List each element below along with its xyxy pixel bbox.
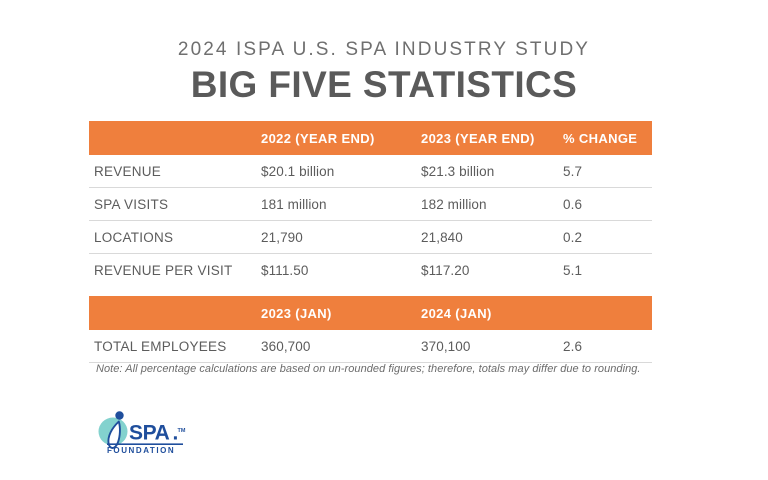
svg-text:TM: TM	[178, 428, 186, 434]
page-title: BIG FIVE STATISTICS	[0, 64, 768, 106]
cell-spa-visits-2023: 182 million	[421, 197, 563, 212]
table-section-spacer	[89, 287, 652, 296]
page-subtitle: 2024 ISPA U.S. SPA INDUSTRY STUDY	[0, 38, 768, 62]
row-label-revenue: REVENUE	[89, 164, 261, 179]
table-row: SPA VISITS 181 million 182 million 0.6	[89, 188, 652, 221]
header-cell-2022-year-end: 2022 (YEAR END)	[261, 131, 421, 146]
header-cell-2024-jan: 2024 (JAN)	[421, 306, 563, 321]
row-label-spa-visits: SPA VISITS	[89, 197, 261, 212]
table-row: REVENUE $20.1 billion $21.3 billion 5.7	[89, 155, 652, 188]
footnote-text: Note: All percentage calculations are ba…	[96, 362, 641, 377]
cell-revenue-per-visit-change: 5.1	[563, 263, 647, 278]
cell-spa-visits-change: 0.6	[563, 197, 647, 212]
header-cell-2023-jan: 2023 (JAN)	[261, 306, 421, 321]
cell-revenue-2022: $20.1 billion	[261, 164, 421, 179]
ispa-foundation-logo: SPA . TM FOUNDATION	[93, 409, 205, 459]
table-row: LOCATIONS 21,790 21,840 0.2	[89, 221, 652, 254]
row-label-revenue-per-visit: REVENUE PER VISIT	[89, 263, 261, 278]
table-header-row-year-end: 2022 (YEAR END) 2023 (YEAR END) % CHANGE	[89, 121, 652, 155]
cell-revenue-2023: $21.3 billion	[421, 164, 563, 179]
row-label-total-employees: TOTAL EMPLOYEES	[89, 339, 261, 354]
table-row: TOTAL EMPLOYEES 360,700 370,100 2.6	[89, 330, 652, 363]
header-cell-percent-change: % CHANGE	[563, 131, 647, 146]
cell-total-employees-2024-jan: 370,100	[421, 339, 563, 354]
cell-revenue-change: 5.7	[563, 164, 647, 179]
cell-revenue-per-visit-2023: $117.20	[421, 263, 563, 278]
cell-total-employees-change: 2.6	[563, 339, 647, 354]
table-header-row-january: 2023 (JAN) 2024 (JAN)	[89, 296, 652, 330]
page-heading: 2024 ISPA U.S. SPA INDUSTRY STUDY BIG FI…	[0, 38, 768, 106]
cell-locations-2023: 21,840	[421, 230, 563, 245]
cell-spa-visits-2022: 181 million	[261, 197, 421, 212]
svg-text:FOUNDATION: FOUNDATION	[107, 446, 175, 455]
table-row: REVENUE PER VISIT $111.50 $117.20 5.1	[89, 254, 652, 287]
statistics-table: 2022 (YEAR END) 2023 (YEAR END) % CHANGE…	[89, 121, 652, 363]
cell-locations-2022: 21,790	[261, 230, 421, 245]
cell-total-employees-2023-jan: 360,700	[261, 339, 421, 354]
row-label-locations: LOCATIONS	[89, 230, 261, 245]
infographic-page: 2024 ISPA U.S. SPA INDUSTRY STUDY BIG FI…	[0, 0, 768, 480]
svg-text:SPA: SPA	[129, 422, 170, 445]
cell-revenue-per-visit-2022: $111.50	[261, 263, 421, 278]
header-cell-2023-year-end: 2023 (YEAR END)	[421, 131, 563, 146]
ispa-foundation-logo-icon: SPA . TM FOUNDATION	[93, 409, 205, 459]
cell-locations-change: 0.2	[563, 230, 647, 245]
